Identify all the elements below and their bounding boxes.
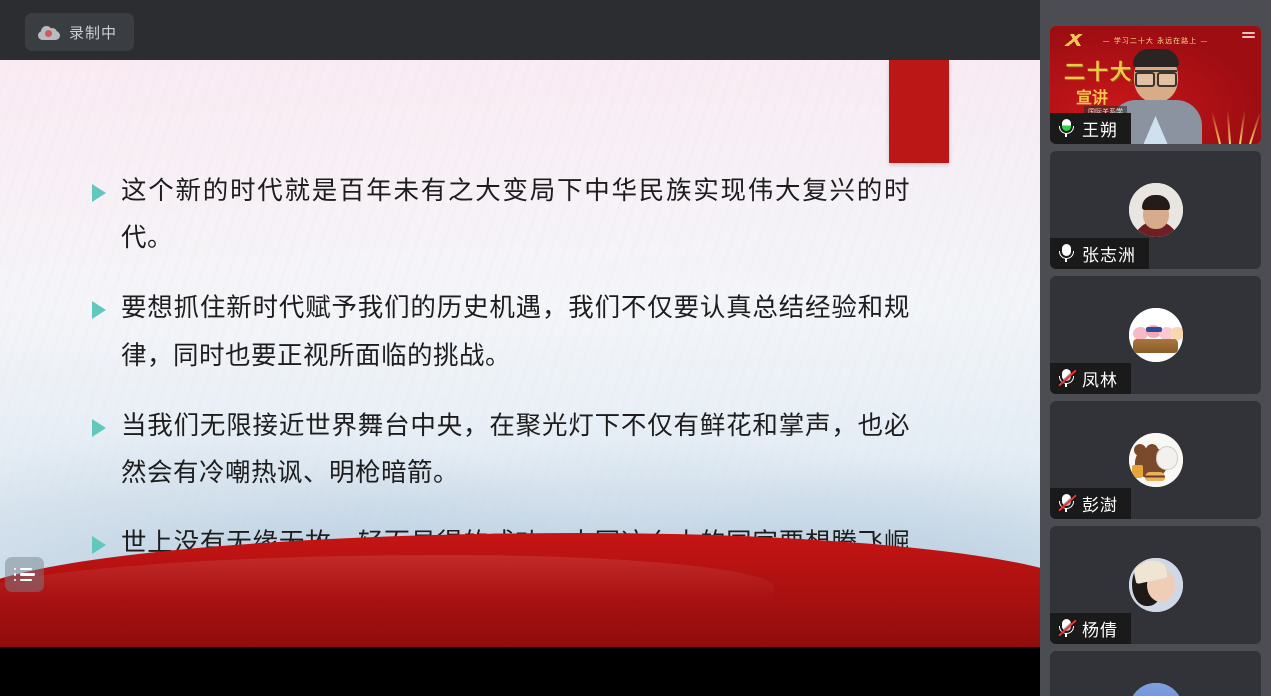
participant-tile-partial[interactable] — [1050, 651, 1261, 696]
list-item: 要想抓住新时代赋予我们的历史机遇，我们不仅要认真总结经验和规律，同时也要正视所面… — [92, 285, 910, 379]
meeting-window: 录制中 这个新的时代就是百年未有之大变局下中华民族实现伟大复兴的时代。 要想抓住… — [0, 0, 1271, 696]
list-item: 这个新的时代就是百年未有之大变局下中华民族实现伟大复兴的时代。 — [92, 168, 910, 262]
bullet-text: 这个新的时代就是百年未有之大变局下中华民族实现伟大复兴的时代。 — [121, 168, 910, 262]
participant-name: 杨倩 — [1082, 616, 1118, 641]
microphone-icon[interactable] — [1058, 119, 1075, 138]
participant-namebar: 彭澍 — [1050, 488, 1131, 519]
participant-name: 凤林 — [1082, 366, 1118, 391]
triangle-bullet-icon — [92, 419, 106, 437]
recording-indicator: 录制中 — [25, 13, 134, 51]
list-item: 当我们无限接近世界舞台中央，在聚光灯下不仅有鲜花和掌声，也必然会有冷嘲热讽、明枪… — [92, 403, 910, 497]
participant-namebar: 凤林 — [1050, 363, 1131, 394]
shared-screen-stage[interactable]: 录制中 这个新的时代就是百年未有之大变局下中华民族实现伟大复兴的时代。 要想抓住… — [0, 0, 1040, 696]
stage-letterbox — [0, 647, 1040, 696]
microphone-muted-icon[interactable] — [1058, 619, 1075, 638]
participant-sidebar[interactable]: — 学习二十大 永远在路上 — 二十大 宣讲 — [1040, 0, 1271, 696]
participant-namebar: 王朔 — [1050, 113, 1131, 144]
avatar — [1129, 558, 1183, 612]
bullet-text: 当我们无限接近世界舞台中央，在聚光灯下不仅有鲜花和掌声，也必然会有冷嘲热讽、明枪… — [121, 403, 910, 497]
slide-accent-block — [889, 60, 949, 163]
participant-name: 王朔 — [1082, 116, 1118, 141]
microphone-muted-icon[interactable] — [1058, 494, 1075, 513]
triangle-bullet-icon — [92, 301, 106, 319]
cloud-record-icon — [38, 25, 60, 40]
dove-icon — [1063, 34, 1087, 46]
banner-top-text: — 学习二十大 永远在路上 — — [1103, 36, 1209, 46]
tile-menu-icon[interactable] — [1242, 32, 1255, 41]
microphone-icon[interactable] — [1058, 244, 1075, 263]
participant-name: 彭澍 — [1082, 491, 1118, 516]
triangle-bullet-icon — [92, 184, 106, 202]
avatar — [1129, 683, 1183, 696]
participant-namebar: 张志洲 — [1050, 238, 1149, 269]
participant-name: 张志洲 — [1082, 241, 1136, 266]
glasses-icon — [1135, 70, 1177, 81]
triangle-bullet-icon — [92, 536, 106, 554]
avatar — [1129, 308, 1183, 362]
meeting-top-bar: 录制中 — [0, 0, 1040, 60]
participant-namebar: 杨倩 — [1050, 613, 1131, 644]
participant-tile[interactable]: 张志洲 — [1050, 151, 1261, 269]
participant-tile-active[interactable]: — 学习二十大 永远在路上 — 二十大 宣讲 — [1050, 26, 1261, 144]
recording-label: 录制中 — [69, 22, 117, 43]
participant-tile[interactable]: 彭澍 — [1050, 401, 1261, 519]
microphone-muted-icon[interactable] — [1058, 369, 1075, 388]
avatar — [1129, 433, 1183, 487]
presentation-slide: 这个新的时代就是百年未有之大变局下中华民族实现伟大复兴的时代。 要想抓住新时代赋… — [0, 60, 1040, 647]
avatar — [1129, 183, 1183, 237]
participant-tile[interactable]: 杨倩 — [1050, 526, 1261, 644]
bullet-text: 要想抓住新时代赋予我们的历史机遇，我们不仅要认真总结经验和规律，同时也要正视所面… — [121, 285, 910, 379]
participant-tile[interactable]: 凤林 — [1050, 276, 1261, 394]
list-menu-icon[interactable] — [5, 557, 44, 592]
